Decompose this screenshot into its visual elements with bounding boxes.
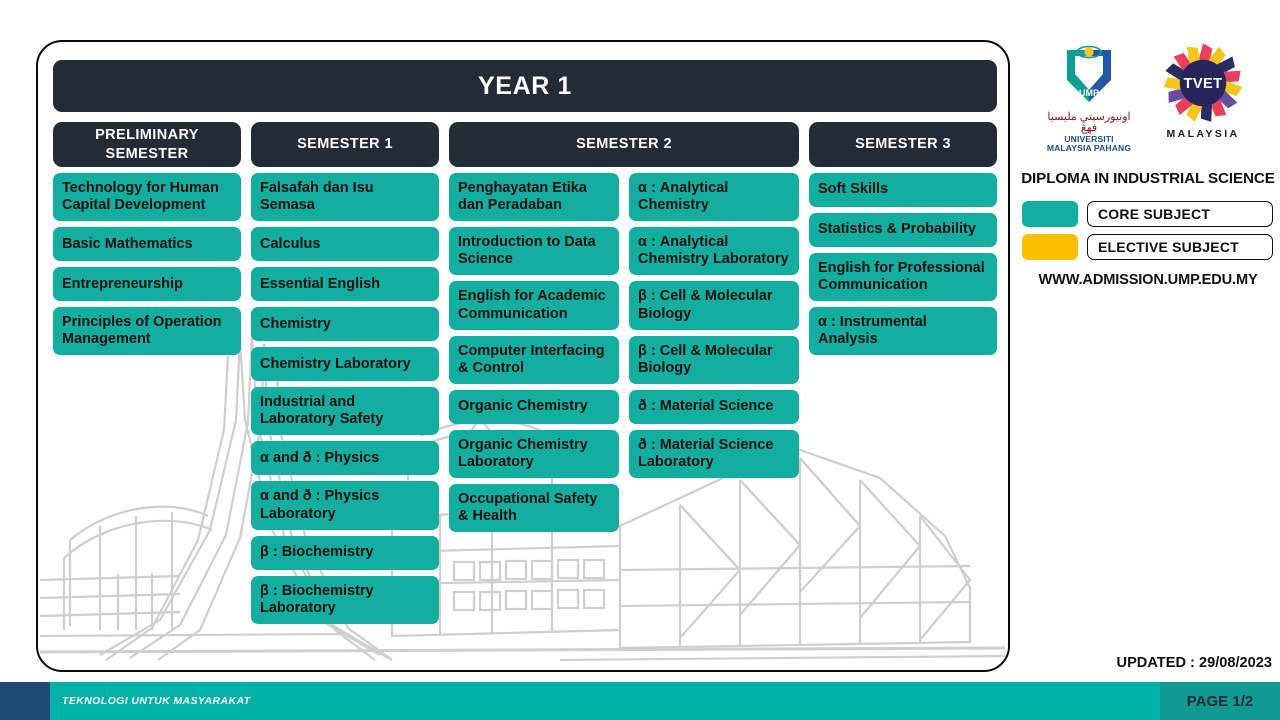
subject-pill[interactable]: Occupational Safety & Health (449, 484, 619, 532)
subject-list-semester-2-right: α : Analytical Chemistry α : Analytical … (629, 173, 799, 532)
legend-row-core: CORE SUBJECT (1022, 201, 1273, 227)
semester-2-subcolumns: Penghayatan Etika dan Peradaban Introduc… (449, 167, 799, 532)
year-title: YEAR 1 (478, 72, 572, 101)
tvet-sunburst-icon: TVET (1160, 40, 1246, 126)
svg-text:TVET: TVET (1183, 76, 1222, 92)
subject-pill[interactable]: Soft Skills (809, 173, 997, 207)
subject-pill[interactable]: α : Analytical Chemistry (629, 173, 799, 221)
subject-pill[interactable]: α and ð : Physics (251, 441, 439, 475)
subject-pill[interactable]: Technology for Human Capital Development (53, 173, 241, 221)
column-header-semester-1: SEMESTER 1 (251, 122, 439, 167)
legend-label-elective: ELECTIVE SUBJECT (1087, 234, 1273, 260)
ump-latin-name: UNIVERSITI MALAYSIA PAHANG (1041, 135, 1137, 154)
subject-pill[interactable]: Organic Chemistry (449, 390, 619, 424)
programme-title: DIPLOMA IN INDUSTRIAL SCIENCE (1016, 170, 1280, 187)
subject-pill[interactable]: Statistics & Probability (809, 213, 997, 247)
column-semester-1: SEMESTER 1 Falsafah dan Isu Semasa Calcu… (251, 122, 439, 662)
footer-page-area: PAGE 1/2 (1160, 682, 1280, 720)
ump-logo: UMP اونيورسيتي مليسيا فهڠ UNIVERSITI MAL… (1041, 40, 1137, 154)
subject-pill[interactable]: Entrepreneurship (53, 267, 241, 301)
legend-row-elective: ELECTIVE SUBJECT (1022, 234, 1273, 260)
subject-pill[interactable]: Industrial and Laboratory Safety (251, 387, 439, 435)
year-banner: YEAR 1 (53, 60, 997, 112)
subject-pill[interactable]: β : Biochemistry Laboratory (251, 576, 439, 624)
subject-pill[interactable]: English for Academic Communication (449, 281, 619, 329)
ump-shield-icon: UMP (1057, 40, 1121, 110)
subject-list-semester-2-left: Penghayatan Etika dan Peradaban Introduc… (449, 173, 619, 532)
footer-bar: TEKNOLOGI UNTUK MASYARAKAT PAGE 1/2 (0, 682, 1280, 720)
column-header-semester-2: SEMESTER 2 (449, 122, 799, 167)
ump-arabic-name: اونيورسيتي مليسيا فهڠ (1041, 112, 1137, 134)
footer-tagline-area: TEKNOLOGI UNTUK MASYARAKAT (50, 682, 1160, 720)
right-rail: UMP اونيورسيتي مليسيا فهڠ UNIVERSITI MAL… (1016, 40, 1280, 288)
subject-pill[interactable]: α : Analytical Chemistry Laboratory (629, 227, 799, 275)
legend: CORE SUBJECT ELECTIVE SUBJECT (1016, 201, 1280, 260)
subject-pill[interactable]: Chemistry (251, 307, 439, 341)
subject-pill[interactable]: Falsafah dan Isu Semasa (251, 173, 439, 221)
footer-tagline: TEKNOLOGI UNTUK MASYARAKAT (62, 695, 251, 707)
year-plan-card: YEAR 1 PRELIMINARY SEMESTER Technology f… (36, 40, 1010, 672)
subject-pill[interactable]: Penghayatan Etika dan Peradaban (449, 173, 619, 221)
subject-pill[interactable]: English for Professional Communication (809, 253, 997, 301)
page-indicator: PAGE 1/2 (1187, 693, 1253, 710)
column-semester-3: SEMESTER 3 Soft Skills Statistics & Prob… (809, 122, 997, 662)
column-header-preliminary-semester: PRELIMINARY SEMESTER (53, 122, 241, 167)
subject-pill[interactable]: Organic Chemistry Laboratory (449, 430, 619, 478)
subject-pill[interactable]: ð : Material Science (629, 390, 799, 424)
subject-pill[interactable]: α and ð : Physics Laboratory (251, 481, 439, 529)
slide-canvas: YEAR 1 PRELIMINARY SEMESTER Technology f… (0, 0, 1280, 720)
subject-pill[interactable]: Principles of Operation Management (53, 307, 241, 355)
subject-pill[interactable]: Chemistry Laboratory (251, 347, 439, 381)
legend-swatch-core (1022, 201, 1078, 227)
column-semester-2: SEMESTER 2 Penghayatan Etika dan Peradab… (449, 122, 799, 662)
subject-list-semester-3: Soft Skills Statistics & Probability Eng… (809, 173, 997, 355)
subject-pill[interactable]: Computer Interfacing & Control (449, 336, 619, 384)
subject-pill[interactable]: Essential English (251, 267, 439, 301)
subject-pill[interactable]: Calculus (251, 227, 439, 261)
semester-columns: PRELIMINARY SEMESTER Technology for Huma… (53, 122, 997, 662)
subject-pill[interactable]: ð : Material Science Laboratory (629, 430, 799, 478)
subject-pill[interactable]: β : Cell & Molecular Biology (629, 281, 799, 329)
subject-pill[interactable]: Basic Mathematics (53, 227, 241, 261)
subject-list-semester-1: Falsafah dan Isu Semasa Calculus Essenti… (251, 173, 439, 624)
legend-swatch-elective (1022, 234, 1078, 260)
subject-list-preliminary: Technology for Human Capital Development… (53, 173, 241, 355)
subject-pill[interactable]: β : Biochemistry (251, 536, 439, 570)
website-url[interactable]: WWW.ADMISSION.UMP.EDU.MY (1016, 272, 1280, 288)
svg-text:UMP: UMP (1079, 88, 1099, 98)
tvet-country-label: MALAYSIA (1151, 128, 1255, 140)
footer-accent-block (0, 682, 50, 720)
updated-date: UPDATED : 29/08/2023 (1012, 655, 1272, 671)
column-header-semester-3: SEMESTER 3 (809, 122, 997, 167)
logo-row: UMP اونيورسيتي مليسيا فهڠ UNIVERSITI MAL… (1016, 40, 1280, 164)
legend-label-core: CORE SUBJECT (1087, 201, 1273, 227)
subject-pill[interactable]: β : Cell & Molecular Biology (629, 336, 799, 384)
column-preliminary-semester: PRELIMINARY SEMESTER Technology for Huma… (53, 122, 241, 662)
tvet-logo: TVET MALAYSIA (1151, 40, 1255, 140)
subject-pill[interactable]: α : Instrumental Analysis (809, 307, 997, 355)
subject-pill[interactable]: Introduction to Data Science (449, 227, 619, 275)
